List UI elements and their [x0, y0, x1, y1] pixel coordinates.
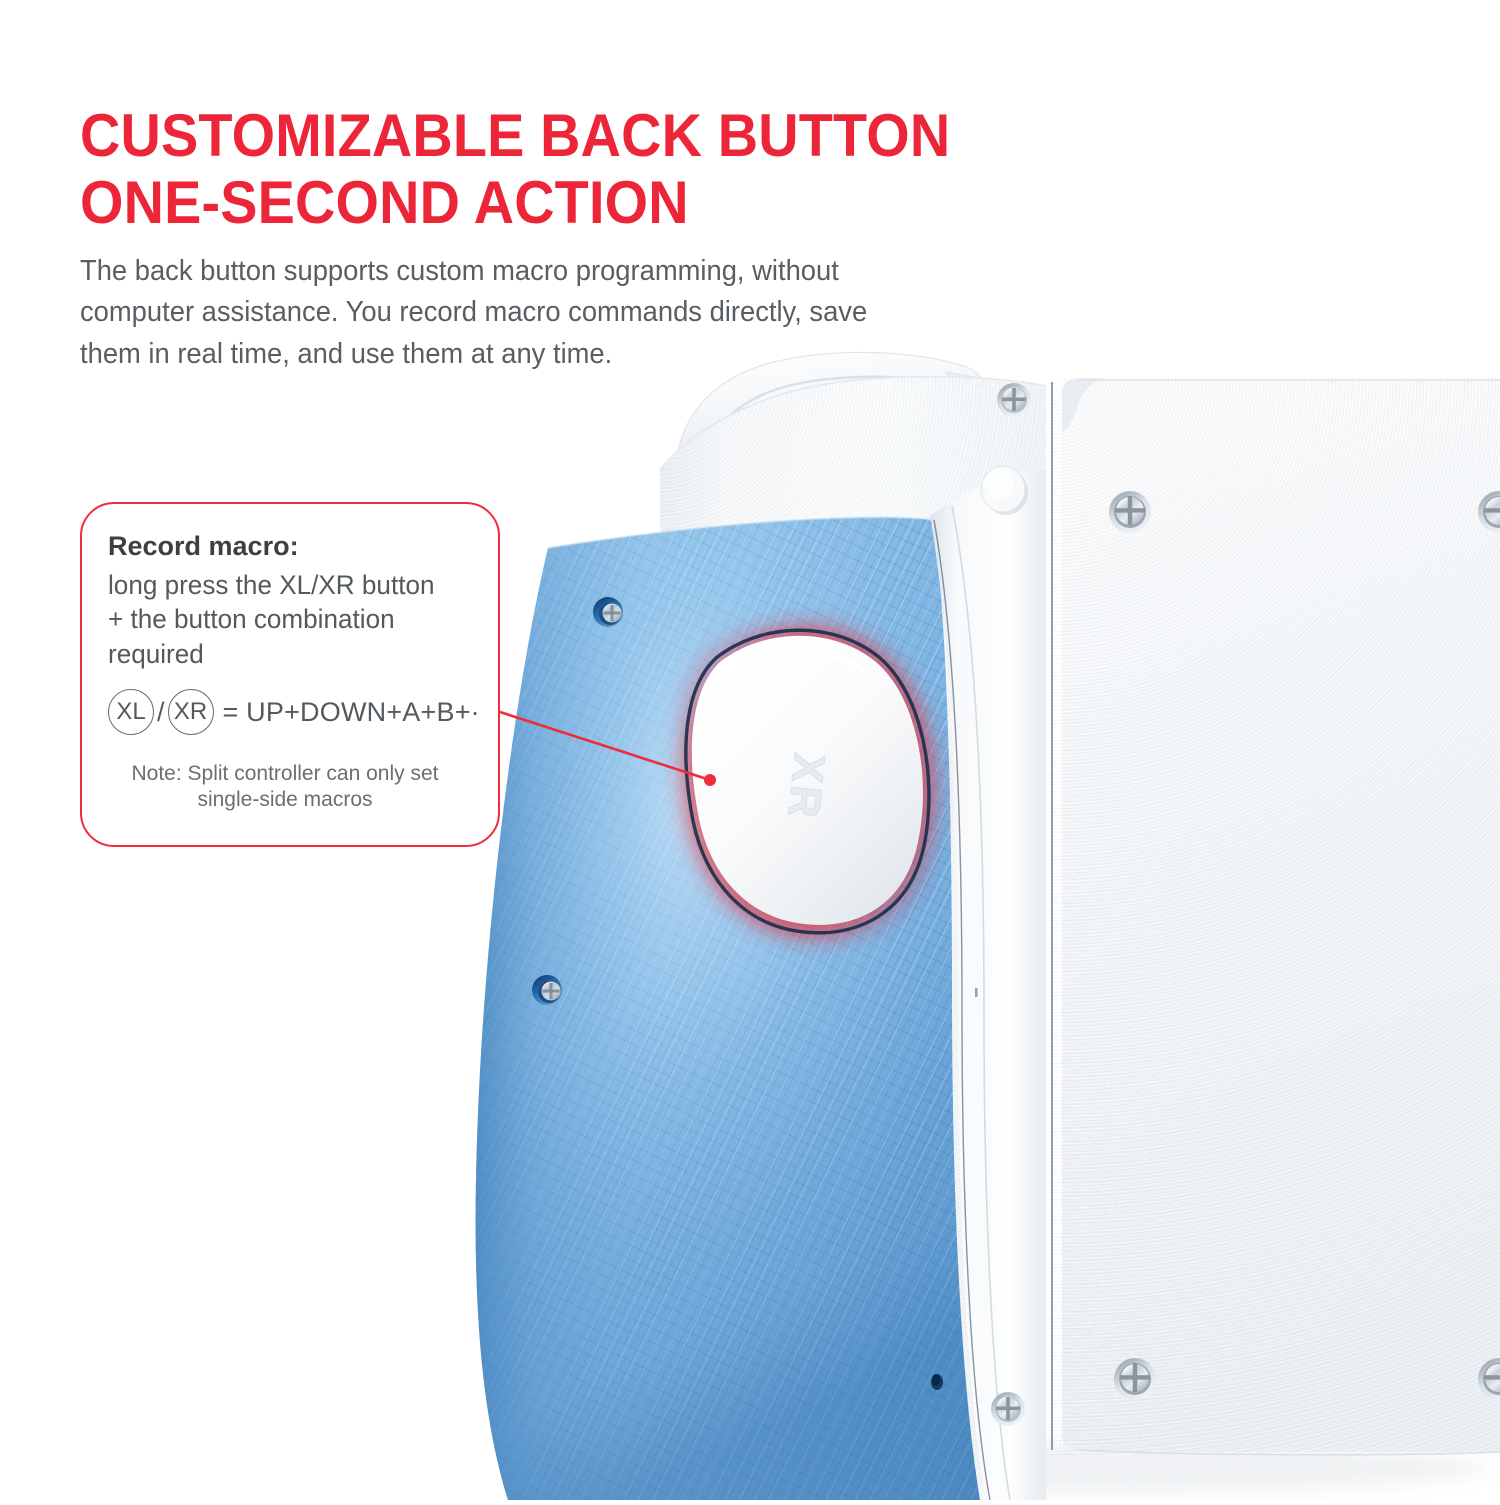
callout-note: Note: Split controller can only set sing… — [108, 761, 476, 812]
callout-title: Record macro: — [108, 530, 476, 564]
formula-equation: = UP+DOWN+A+B+· — [214, 697, 480, 728]
callout-body: long press the XL/XR button + the button… — [108, 568, 470, 671]
screw-shoulder-top — [997, 383, 1031, 417]
console-body-panel — [1050, 370, 1500, 1470]
screw-panel-botleft — [1114, 1358, 1156, 1400]
screw-grip-top — [593, 597, 623, 627]
svg-text:XR: XR — [778, 751, 834, 823]
key-badge-xl: XL — [108, 689, 154, 735]
formula-separator: / — [154, 697, 168, 728]
screw-panel-topleft — [1109, 491, 1151, 533]
screw-shoulder-bottom — [991, 1392, 1025, 1426]
seam-detail-mark — [975, 988, 978, 997]
pinhole — [931, 1374, 943, 1390]
callout-box: Record macro: long press the XL/XR butto… — [80, 502, 500, 847]
callout-formula: XL / XR = UP+DOWN+A+B+· — [108, 689, 476, 735]
back-button-label: XR — [778, 751, 834, 823]
screw-grip-bottom — [532, 975, 562, 1005]
key-badge-xr: XR — [168, 689, 214, 735]
